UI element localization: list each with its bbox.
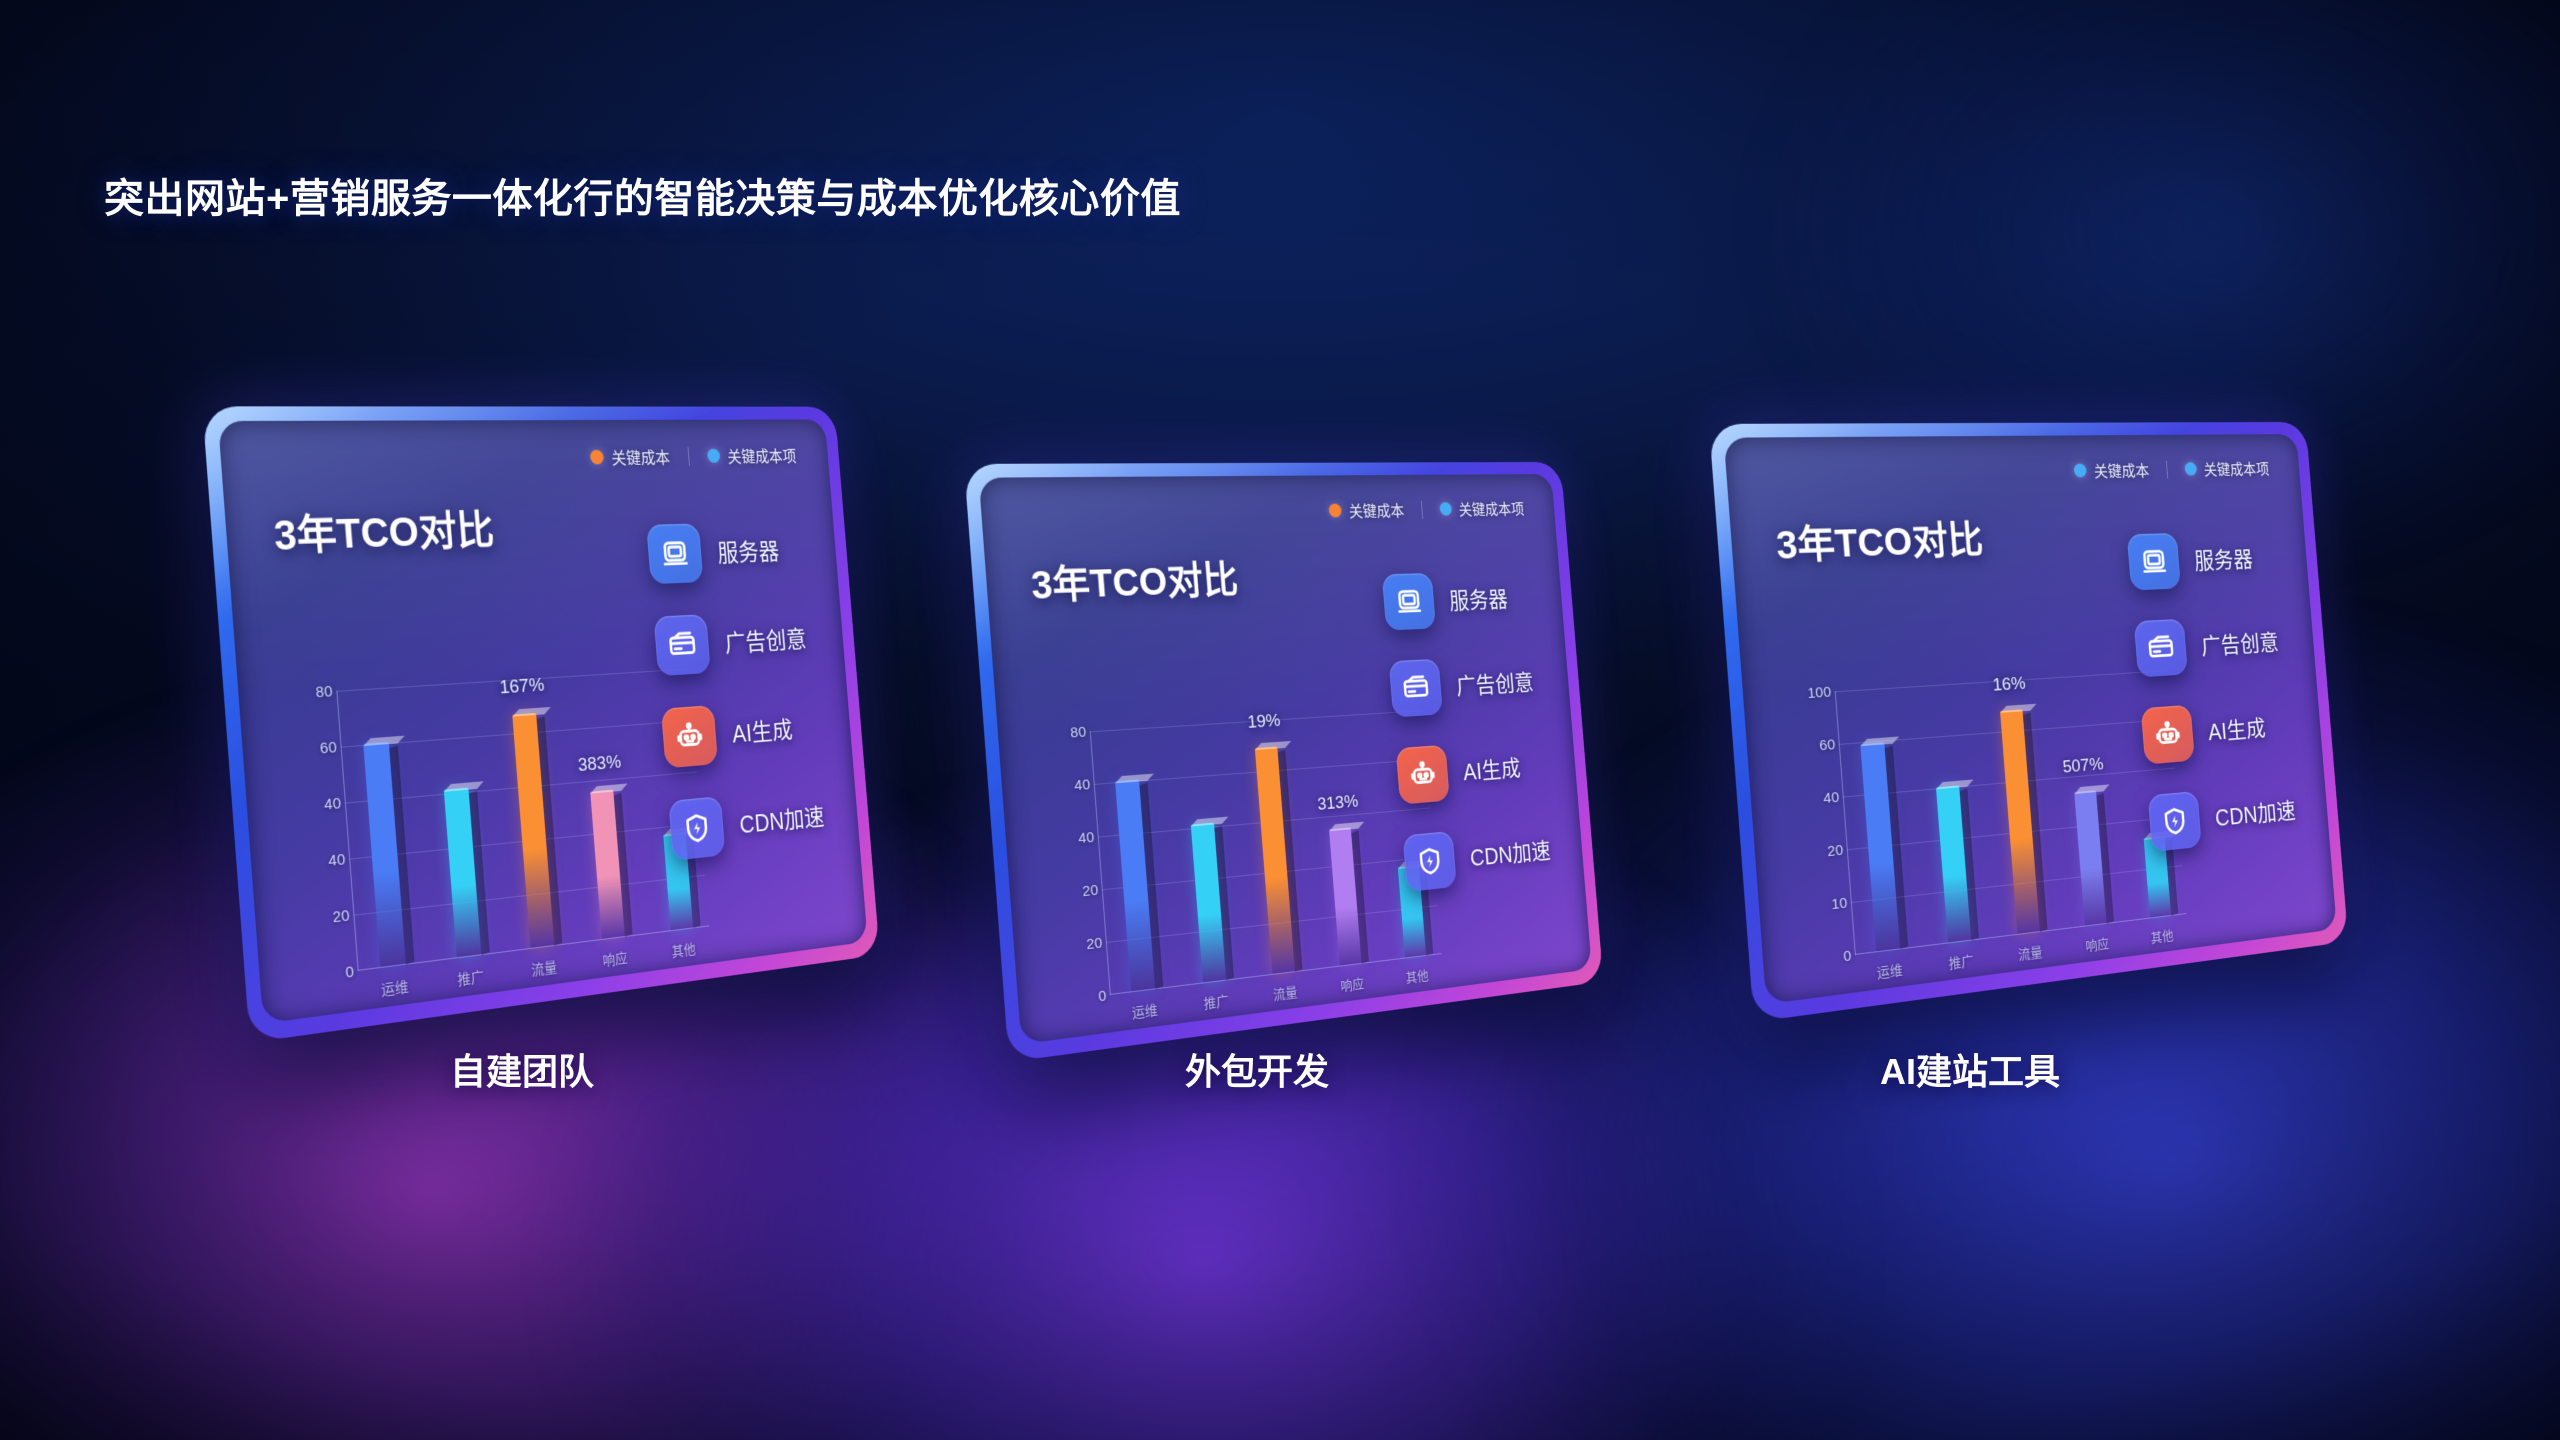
page-title: 突出网站+营销服务一体化行的智能决策与成本优化核心价值 [104, 166, 1181, 224]
legend-item: 关键成本项 [707, 443, 798, 467]
x-axis-tick-label: 推广 [1203, 991, 1229, 1013]
bar[interactable] [2000, 709, 2040, 934]
server-icon [2127, 533, 2181, 591]
bar[interactable] [1255, 747, 1295, 974]
legend-item: 关键成本项 [1439, 497, 1525, 520]
feature-label: CDN加速 [2214, 793, 2297, 833]
x-axis-tick-label: 流量 [2018, 942, 2044, 964]
bar-slot[interactable]: 运维 [1850, 687, 1907, 952]
bar-value-label: 167% [499, 675, 545, 700]
card-screen: 3年TCO对比 关键成本关键成本项 80604040200运维推广流量167%响… [218, 419, 868, 1023]
legend-item: 关键成本项 [2184, 457, 2270, 480]
y-axis-tick-label: 40 [1074, 776, 1091, 794]
tco-card-ai-builder[interactable]: 3年TCO对比 关键成本关键成本项 100604020100运维推广流量16%响… [1700, 400, 2400, 1000]
legend-item: 关键成本 [589, 444, 670, 469]
x-axis-tick-label: 响应 [2085, 934, 2110, 956]
x-axis-tick-label: 运维 [1131, 1000, 1158, 1023]
feature-item[interactable]: AI生成 [2141, 698, 2291, 765]
feature-item[interactable]: 广告创意 [653, 609, 811, 676]
blue-legend-dot-icon [707, 449, 721, 463]
x-axis-tick-label: 其他 [1405, 966, 1429, 987]
feature-item[interactable]: CDN加速 [2147, 782, 2297, 852]
feature-label: 服务器 [1448, 582, 1509, 616]
feature-item[interactable]: AI生成 [1396, 738, 1546, 805]
y-axis-tick-label: 60 [1819, 736, 1836, 754]
bar-value-label: 16% [1992, 674, 2026, 697]
feature-item[interactable]: 服务器 [646, 521, 805, 585]
legend-separator [688, 447, 690, 466]
x-axis-tick-label: 推广 [457, 966, 485, 990]
feature-label: CDN加速 [738, 799, 825, 841]
bar-value-label: 313% [1317, 792, 1359, 816]
feature-label: CDN加速 [1469, 833, 1552, 873]
bar-slot[interactable]: 推广 [429, 682, 488, 959]
feature-item[interactable]: 广告创意 [1389, 654, 1539, 718]
y-axis-tick-label: 20 [1086, 934, 1103, 952]
credit-card-icon [2134, 619, 2188, 678]
bar[interactable] [2074, 790, 2106, 925]
chart-legend: 关键成本关键成本项 [1328, 497, 1525, 522]
legend-item: 关键成本 [1328, 498, 1405, 522]
y-axis-tick-label: 10 [1831, 894, 1848, 912]
feature-item[interactable]: CDN加速 [668, 787, 826, 861]
bar[interactable] [590, 790, 625, 939]
bar-slot[interactable]: 响应313% [1314, 714, 1367, 966]
y-axis-tick-label: 0 [1843, 947, 1852, 965]
feature-item[interactable]: 广告创意 [2134, 614, 2284, 678]
bar-slot[interactable]: 响应507% [2059, 674, 2112, 926]
card-caption-self-built: 自建团队 [450, 1043, 594, 1095]
chart-legend: 关键成本关键成本项 [589, 443, 797, 469]
x-axis-tick-label: 流量 [1273, 982, 1299, 1004]
card-screen: 3年TCO对比 关键成本关键成本项 100604020100运维推广流量16%响… [1724, 434, 2337, 1004]
legend-item: 关键成本 [2073, 458, 2150, 482]
y-axis-tick-label: 20 [1827, 841, 1844, 859]
credit-card-icon [653, 614, 710, 676]
bar[interactable] [1329, 827, 1361, 965]
bar-chart-plot: 80604040200运维推广流量167%响应383%其他 [312, 671, 668, 974]
y-axis-tick-label: 20 [332, 906, 350, 926]
bar-slot[interactable]: 推广 [1922, 683, 1978, 944]
feature-item[interactable]: AI生成 [661, 698, 819, 769]
card-panel: 3年TCO对比 关键成本关键成本项 80404020200运维推广流量19%响应… [964, 462, 1603, 1062]
card-caption-outsourced: 外包开发 [1185, 1043, 1329, 1095]
bar-slot[interactable]: 响应383% [575, 673, 631, 940]
bar[interactable] [1115, 780, 1155, 992]
bar-slot[interactable]: 运维 [1105, 727, 1162, 992]
bar[interactable] [1860, 742, 1900, 951]
blue-legend-dot-icon [2073, 464, 2087, 478]
y-axis-tick-label: 20 [1082, 881, 1099, 899]
bar-series: 运维推广流量19%响应313%其他 [1105, 710, 1432, 992]
card-caption-ai-builder: AI建站工具 [1880, 1043, 2060, 1095]
card-title: 3年TCO对比 [1774, 509, 1985, 571]
card-title: 3年TCO对比 [271, 497, 495, 562]
feature-item[interactable]: 服务器 [1382, 570, 1532, 630]
credit-card-icon [1389, 659, 1443, 718]
bar-slot[interactable]: 运维 [352, 686, 412, 968]
bar-slot[interactable]: 推广 [1177, 723, 1233, 984]
legend-label: 关键成本项 [2203, 457, 2270, 480]
legend-label: 关键成本 [2093, 458, 2150, 481]
x-axis-tick-label: 其他 [2150, 926, 2174, 947]
feature-label: 服务器 [716, 533, 780, 569]
feature-label: 广告创意 [724, 621, 808, 659]
x-axis-tick-label: 响应 [602, 948, 628, 971]
feature-item[interactable]: 服务器 [2127, 530, 2277, 590]
y-axis-tick-label: 80 [1070, 723, 1087, 741]
feature-label: AI生成 [731, 712, 794, 751]
y-axis-tick-label: 0 [345, 963, 355, 982]
y-axis-tick-label: 40 [1078, 829, 1095, 847]
legend-separator [1421, 500, 1423, 518]
bar[interactable] [1936, 785, 1971, 942]
bar[interactable] [444, 788, 482, 958]
feature-list[interactable]: 服务器广告创意AI生成CDN加速 [2127, 530, 2298, 852]
card-title: 3年TCO对比 [1029, 549, 1240, 611]
feature-item[interactable]: CDN加速 [1402, 822, 1552, 892]
card-panel: 3年TCO对比 关键成本关键成本项 100604020100运维推广流量16%响… [1709, 422, 2348, 1022]
blue-legend-dot-icon [2184, 462, 2197, 475]
y-axis-tick-label: 100 [1807, 683, 1832, 701]
y-axis-tick-label: 0 [1098, 987, 1107, 1005]
bar[interactable] [512, 713, 554, 948]
orange-legend-dot-icon [590, 450, 604, 465]
x-axis-tick-label: 流量 [531, 957, 558, 980]
feature-list[interactable]: 服务器广告创意AI生成CDN加速 [1382, 570, 1553, 892]
x-axis-tick-label: 响应 [1340, 974, 1365, 996]
ai-robot-icon [661, 705, 718, 768]
bar[interactable] [363, 742, 405, 967]
bar-series: 运维推广流量167%响应383%其他 [352, 668, 699, 968]
chart-legend: 关键成本关键成本项 [2073, 457, 2270, 482]
ai-robot-icon [2141, 705, 2195, 765]
bar-slot[interactable]: 流量16% [1992, 678, 2046, 934]
shield-bolt-icon [2147, 791, 2201, 852]
server-icon [646, 523, 703, 584]
feature-label: 广告创意 [1455, 665, 1535, 701]
shield-bolt-icon [1402, 831, 1456, 892]
feature-list[interactable]: 服务器广告创意AI生成CDN加速 [646, 521, 826, 861]
y-axis-tick-label: 80 [315, 682, 333, 701]
blue-legend-dot-icon [1439, 502, 1452, 515]
bar-chart-plot: 80404020200运维推广流量19%响应313%其他 [1067, 713, 1402, 998]
bar-value-label: 19% [1247, 711, 1281, 734]
feature-label: AI生成 [2207, 711, 2267, 747]
tco-card-outsourced[interactable]: 3年TCO对比 关键成本关键成本项 80404020200运维推广流量19%响应… [955, 440, 1655, 1040]
ai-robot-icon [1396, 745, 1450, 805]
shield-bolt-icon [668, 796, 725, 861]
y-axis-tick-label: 60 [319, 738, 337, 757]
bar-value-label: 383% [577, 752, 622, 777]
feature-label: AI生成 [1462, 751, 1522, 787]
bar-slot[interactable]: 流量167% [503, 677, 561, 949]
y-axis-tick-label: 40 [328, 850, 346, 869]
orange-legend-dot-icon [1328, 504, 1342, 518]
card-panel: 3年TCO对比 关键成本关键成本项 80604040200运维推广流量167%响… [202, 406, 880, 1042]
x-axis-tick-label: 运维 [1876, 960, 1903, 983]
server-icon [1382, 573, 1436, 631]
card-screen: 3年TCO对比 关键成本关键成本项 80404020200运维推广流量19%响应… [979, 474, 1592, 1044]
bar-slot[interactable]: 流量19% [1247, 718, 1301, 974]
legend-label: 关键成本 [610, 444, 670, 469]
bar[interactable] [1191, 823, 1226, 983]
y-axis-tick-label: 40 [1823, 789, 1840, 807]
x-axis-tick-label: 推广 [1948, 951, 1974, 973]
x-axis-tick-label: 其他 [671, 939, 696, 961]
legend-label: 关键成本项 [1458, 497, 1525, 520]
bar-series: 运维推广流量16%响应507%其他 [1850, 670, 2177, 952]
feature-label: 广告创意 [2200, 625, 2280, 661]
legend-label: 关键成本项 [726, 443, 797, 467]
bar-chart-plot: 100604020100运维推广流量16%响应507%其他 [1812, 673, 2147, 958]
x-axis-tick-label: 运维 [380, 976, 409, 1000]
feature-label: 服务器 [2193, 542, 2254, 576]
bar-value-label: 507% [2062, 754, 2104, 778]
legend-label: 关键成本 [1348, 498, 1405, 521]
legend-separator [2166, 460, 2168, 478]
tco-card-self-built[interactable]: 3年TCO对比 关键成本关键成本项 80604040200运维推广流量167%响… [215, 400, 915, 1000]
y-axis-tick-label: 40 [324, 794, 342, 813]
